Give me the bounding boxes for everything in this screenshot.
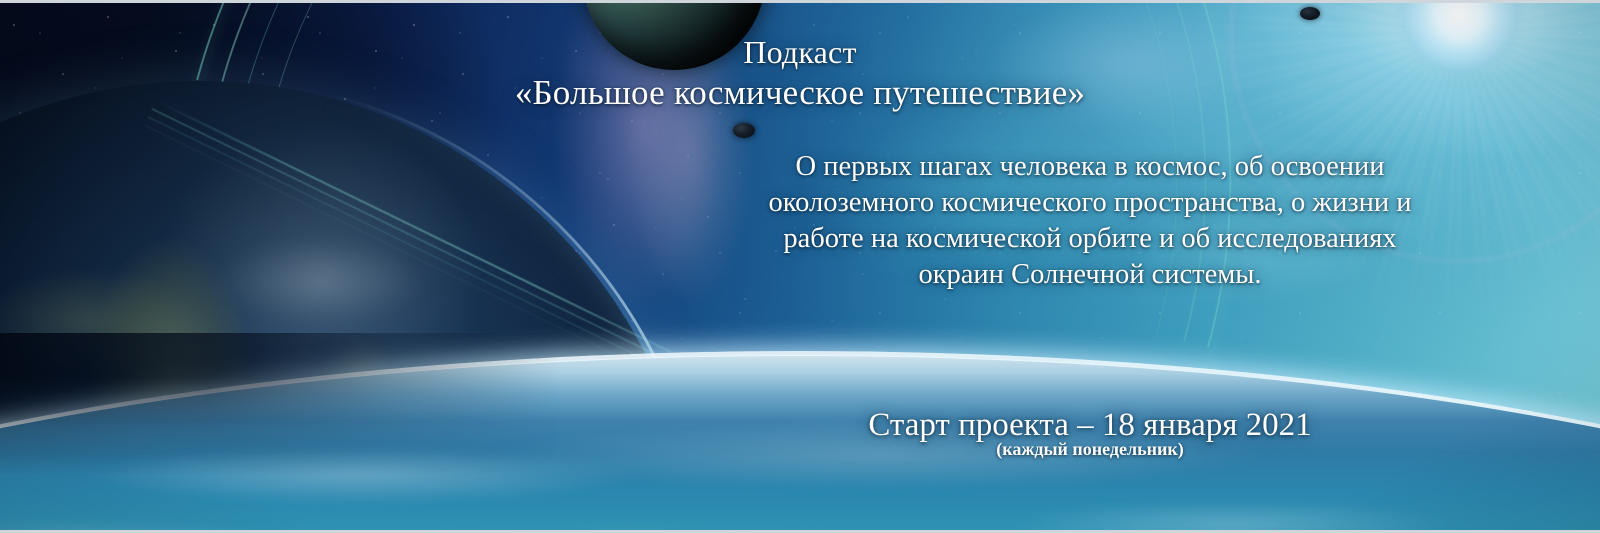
description-line2: околоземного космического пространства, …	[640, 185, 1540, 221]
podcast-title: Подкаст «Большое космическое путешествие…	[0, 32, 1600, 114]
small-moon-icon	[733, 123, 755, 138]
podcast-title-line2: «Большое космическое путешествие»	[0, 72, 1600, 114]
podcast-description: О первых шагах человека в космос, об осв…	[640, 149, 1540, 293]
space-podcast-banner: Подкаст «Большое космическое путешествие…	[0, 0, 1600, 533]
project-frequency: (каждый понедельник)	[700, 437, 1480, 461]
description-line4: окраин Солнечной системы.	[640, 257, 1540, 293]
description-line3: работе на космической орбите и об исслед…	[640, 221, 1540, 257]
foreground-planet-night-side	[0, 333, 560, 533]
description-line1: О первых шагах человека в космос, об осв…	[640, 149, 1540, 185]
small-moon-icon	[1300, 7, 1320, 20]
podcast-title-line1: Подкаст	[0, 32, 1600, 72]
